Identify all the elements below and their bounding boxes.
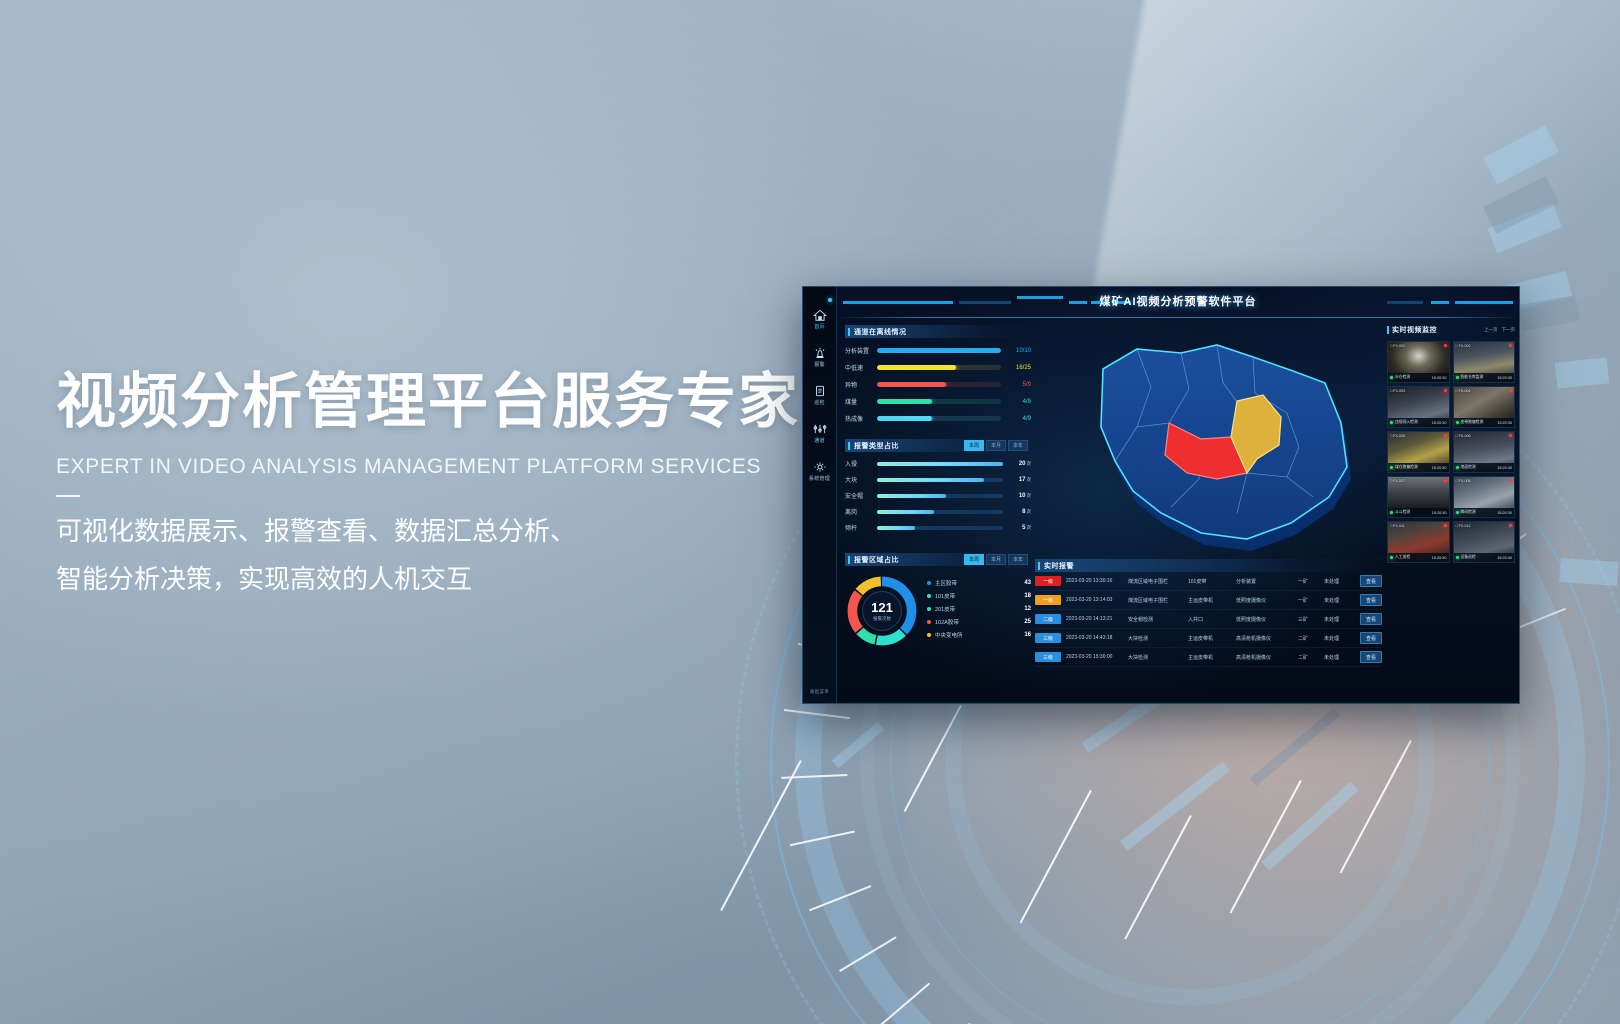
video-card[interactable]: □ FX-005煤仓跑偏检测15:20:30 (1387, 431, 1450, 473)
view-button[interactable]: 查看 (1360, 651, 1382, 663)
alarm-status: 未处理 (1324, 597, 1354, 604)
alarm-type-label: 大块 (845, 475, 877, 484)
video-timestamp: 15:20:30 (1497, 556, 1512, 560)
channel-panel-title: 通道在离线情况 (854, 327, 907, 337)
video-id-label: □ FX-012 (1456, 524, 1471, 528)
alarm-location: 主运皮带机 (1188, 635, 1236, 642)
video-timestamp: 15:20:30 (1432, 556, 1447, 560)
alarm-area-tab[interactable]: 本年 (1008, 554, 1028, 565)
video-card-footer: 人工巡检15:20:30 (1388, 553, 1449, 562)
marketing-copy: 视频分析管理平台服务专家 EXPERT IN VIDEO ANALYSIS MA… (56, 368, 836, 603)
channel-row-label: 煤量 (845, 397, 877, 406)
alarm-type-track (877, 510, 1003, 514)
video-id-label: □ FX-007 (1390, 479, 1405, 483)
alarm-type-value: 8次 (1003, 509, 1031, 515)
alarm-type: 煤流区域电子围栏 (1128, 597, 1188, 604)
recording-indicator-icon (1509, 344, 1512, 347)
donut-legend-dot (927, 607, 931, 611)
video-name: 违规闯入检测 (1395, 420, 1418, 425)
sidebar-item-inspection[interactable]: 巡检 (803, 385, 836, 406)
online-status-icon (1390, 511, 1393, 514)
alarm-type-unit: 次 (1027, 477, 1032, 482)
alarm-device: 低照度摄像仪 (1236, 597, 1298, 604)
channel-row-label: 分析装置 (845, 346, 877, 355)
table-row: 三级2023-03-20 14:43:18大块检测主运皮带机高清枪机摄像仪二矿未… (1035, 629, 1381, 648)
alarm-type-fill (877, 494, 946, 498)
view-button[interactable]: 查看 (1360, 632, 1382, 644)
video-timestamp: 15:20:30 (1432, 376, 1447, 380)
alarm-type-tabs: 本周本月本年 (964, 440, 1031, 451)
donut-legend-row: 中央变电所16 (927, 631, 1031, 639)
page-subtitle: EXPERT IN VIDEO ANALYSIS MANAGEMENT PLAT… (56, 455, 836, 479)
alarm-type-value: 5次 (1003, 525, 1031, 531)
alarm-type-row: 离岗8次 (845, 507, 1031, 516)
alarm-area-chart: 121 报警次数 主区胶带43101皮带18201皮带12102A胶带25中央变… (845, 574, 1031, 648)
video-id-label: □ FX-003 (1390, 389, 1405, 393)
donut-legend-row: 主区胶带43 (927, 579, 1031, 587)
channel-row-fill (877, 348, 1001, 353)
donut-total-value: 121 (871, 601, 893, 614)
alarm-type: 煤流区域电子围栏 (1128, 578, 1188, 585)
channel-row-value: 16/25 (1001, 365, 1031, 371)
video-card-footer: 煤仓跑偏检测15:20:30 (1388, 463, 1449, 472)
alarm-type: 大块检测 (1128, 635, 1188, 642)
donut-legend-name: 102A胶带 (935, 618, 1024, 626)
video-timestamp: 15:20:30 (1497, 511, 1512, 515)
alarm-mine: 二矿 (1298, 654, 1324, 661)
alarm-level-badge: 二级 (1035, 614, 1061, 624)
online-status-icon (1390, 556, 1393, 559)
view-button[interactable]: 查看 (1360, 594, 1382, 606)
sidebar-item-home[interactable]: 首页 (803, 309, 836, 330)
video-card[interactable]: □ FX-003违规闯入检测15:20:30 (1387, 386, 1450, 428)
video-prev-page[interactable]: 上一页 (1484, 327, 1498, 333)
online-status-icon (1390, 421, 1393, 424)
realtime-alarm-rows: 一级2023-03-20 13:30:16煤流区域电子围栏101皮带分析装置一矿… (1035, 572, 1381, 667)
alarm-status: 未处理 (1324, 616, 1354, 623)
alarm-area-panel: 报警区域占比 本周本月本年 121 报警次数 主区胶带43101皮带18201皮… (845, 553, 1031, 648)
table-row: 一级2023-03-20 13:30:16煤流区域电子围栏101皮带分析装置一矿… (1035, 572, 1381, 591)
video-card-footer: 违规闯入检测15:20:30 (1388, 418, 1449, 427)
alarm-type-label: 安全帽 (845, 491, 877, 500)
video-next-page[interactable]: 下一页 (1502, 327, 1516, 333)
alarm-type-tab[interactable]: 本周 (964, 440, 984, 451)
sidebar: 首页 报警 巡检 通道 (803, 287, 837, 703)
alarm-action-cell: 查看 (1354, 632, 1382, 644)
view-button[interactable]: 查看 (1360, 613, 1382, 625)
channel-row: 分析装置10/10 (845, 346, 1031, 355)
alarm-time: 2023-03-20 13:30:16 (1066, 578, 1128, 584)
alarm-type-panel-title: 报警类型占比 (854, 441, 899, 451)
video-name: 设备巡检 (1461, 555, 1476, 560)
donut-legend-value: 43 (1024, 580, 1031, 586)
recording-indicator-icon (1444, 479, 1447, 482)
video-timestamp: 15:20:30 (1497, 466, 1512, 470)
alarm-type-label: 入侵 (845, 459, 877, 468)
alarm-time: 2023-03-20 14:13:21 (1066, 616, 1128, 622)
channel-row-label: 中低速 (845, 363, 877, 372)
alarm-type-row: 入侵20次 (845, 459, 1031, 468)
alarm-device: 高清枪机摄像仪 (1236, 635, 1298, 642)
table-row: 二级2023-03-20 14:13:21安全帽检测入井口低照度摄像仪三矿未处理… (1035, 610, 1381, 629)
view-button[interactable]: 查看 (1360, 575, 1382, 587)
online-status-icon (1456, 466, 1459, 469)
alarm-level-badge: 三级 (1035, 652, 1061, 662)
video-card-footer: 水仓检测15:20:30 (1388, 373, 1449, 382)
sidebar-item-channel[interactable]: 通道 (803, 423, 836, 444)
alarm-type-value: 17次 (1003, 477, 1031, 483)
dashboard-screen: 首页 报警 巡检 通道 (802, 286, 1520, 704)
recording-indicator-icon (1509, 434, 1512, 437)
alarm-type-row: 安全帽10次 (845, 491, 1031, 500)
alarm-status: 未处理 (1324, 578, 1354, 585)
alarm-area-panel-title: 报警区域占比 (854, 555, 899, 565)
channel-rows: 分析装置10/10中低速16/25异物5/9煤量4/9热成像4/9 (845, 346, 1031, 423)
channel-row-fill (877, 416, 932, 421)
donut-legend-value: 16 (1024, 632, 1031, 638)
channel-row: 煤量4/9 (845, 397, 1031, 406)
video-name: 瞬间检测 (1461, 510, 1476, 515)
realtime-alarm-header: 实时报警 (1035, 559, 1381, 572)
video-timestamp: 15:20:30 (1432, 511, 1447, 515)
alarm-type-track (877, 462, 1003, 466)
hud-slab (1559, 558, 1619, 586)
donut-legend-row: 201皮带12 (927, 605, 1031, 613)
video-card-footer: 斗斗检测15:20:30 (1388, 508, 1449, 517)
alarm-type-fill (877, 526, 915, 530)
alarm-level-badge: 一级 (1035, 595, 1061, 605)
alarm-action-cell: 查看 (1354, 594, 1382, 606)
video-monitor-panel: 实时视频监控 上一页 下一页 □ FX-001水仓检测15:20:30□ FX-… (1387, 325, 1515, 563)
alarm-type-tab[interactable]: 本月 (986, 440, 1006, 451)
alarm-time: 2023-03-20 15:30:00 (1066, 654, 1128, 660)
sidebar-item-label: 系统管理 (803, 475, 836, 482)
alarm-mine: 三矿 (1298, 616, 1324, 623)
alarm-mine: 二矿 (1298, 635, 1324, 642)
donut-legend-row: 102A胶带25 (927, 618, 1031, 626)
video-name: 地面检测 (1461, 465, 1476, 470)
video-panel-header: 实时视频监控 上一页 下一页 (1387, 325, 1515, 335)
hud-slab (1555, 357, 1609, 388)
video-id-label: □ FX-001 (1390, 344, 1405, 348)
alarm-light-icon (813, 347, 827, 359)
channel-row-label: 异物 (845, 380, 877, 389)
alarm-mine: 一矿 (1298, 597, 1324, 604)
video-panel-title: 实时视频监控 (1392, 325, 1437, 335)
video-name: 水仓检测 (1395, 375, 1410, 380)
donut-legend-value: 12 (1024, 606, 1031, 612)
realtime-alarm-panel: 实时报警 一级2023-03-20 13:30:16煤流区域电子围栏101皮带分… (1035, 559, 1381, 667)
alarm-location: 主运皮带机 (1188, 597, 1236, 604)
realtime-alarm-title: 实时报警 (1044, 561, 1074, 571)
recording-indicator-icon (1509, 479, 1512, 482)
video-timestamp: 15:20:30 (1497, 376, 1512, 380)
donut-legend-row: 101皮带18 (927, 592, 1031, 600)
recording-indicator-icon (1444, 344, 1447, 347)
video-timestamp: 15:20:30 (1432, 421, 1447, 425)
video-card[interactable]: □ FX-012设备巡检15:20:30 (1453, 521, 1516, 563)
sidebar-status-dot (828, 298, 832, 302)
alarm-type: 大块检测 (1128, 654, 1188, 661)
channel-row-fill (877, 382, 946, 387)
channel-row-value: 5/9 (1001, 382, 1031, 388)
video-card[interactable]: □ FX-002智能仓库监测15:20:30 (1453, 341, 1516, 383)
video-card[interactable]: □ FX-008瞬间检测15:20:30 (1453, 476, 1516, 518)
video-name: 皮带跑偏检测 (1461, 420, 1484, 425)
alarm-action-cell: 查看 (1354, 575, 1382, 587)
donut-legend-name: 主区胶带 (935, 579, 1024, 587)
channel-row-track (877, 348, 1001, 353)
region-map[interactable] (1041, 327, 1371, 557)
video-timestamp: 15:20:30 (1497, 421, 1512, 425)
video-name: 斗斗检测 (1395, 510, 1410, 515)
online-status-icon (1390, 376, 1393, 379)
alarm-type-unit: 次 (1027, 525, 1032, 530)
alarm-action-cell: 查看 (1354, 651, 1382, 663)
online-status-icon (1456, 511, 1459, 514)
alarm-area-tabs: 本周本月本年 (964, 554, 1031, 565)
alarm-type-fill (877, 510, 934, 514)
donut-center: 121 报警次数 (862, 591, 902, 631)
alarm-type-label: 离岗 (845, 507, 877, 516)
alarm-device: 分析装置 (1236, 578, 1298, 585)
online-status-icon (1456, 556, 1459, 559)
video-id-label: □ FX-002 (1456, 344, 1471, 348)
sidebar-collapse-button[interactable]: 收起菜单 (803, 689, 836, 695)
channel-row: 中低速16/25 (845, 363, 1031, 372)
alarm-type-unit: 次 (1027, 493, 1032, 498)
recording-indicator-icon (1509, 524, 1512, 527)
alarm-level-badge: 三级 (1035, 633, 1061, 643)
donut-legend-value: 18 (1024, 593, 1031, 599)
alarm-status: 未处理 (1324, 635, 1354, 642)
divider-rule (56, 495, 80, 497)
channel-row-track (877, 416, 1001, 421)
video-card[interactable]: □ FX-006地面检测15:20:30 (1453, 431, 1516, 473)
channel-row-track (877, 365, 1001, 370)
channel-row: 热成像4/9 (845, 414, 1031, 423)
video-card[interactable]: □ FX-004皮带跑偏检测15:20:30 (1453, 386, 1516, 428)
video-card[interactable]: □ FX-011人工巡检15:20:30 (1387, 521, 1450, 563)
channel-row-value: 10/10 (1001, 348, 1031, 354)
alarm-level-badge: 一级 (1035, 576, 1061, 586)
channel-status-panel: 通道在离线情况 分析装置10/10中低速16/25异物5/9煤量4/9热成像4/… (845, 325, 1031, 423)
video-card-footer: 瞬间检测15:20:30 (1454, 508, 1515, 517)
video-card[interactable]: □ FX-007斗斗检测15:20:30 (1387, 476, 1450, 518)
alarm-type-row: 倾杆5次 (845, 523, 1031, 532)
map-svg (1041, 327, 1371, 557)
recording-indicator-icon (1509, 389, 1512, 392)
sidebar-item-label: 报警 (803, 361, 836, 368)
donut-legend-name: 201皮带 (935, 605, 1024, 613)
alarm-device: 高清枪机摄像仪 (1236, 654, 1298, 661)
description-line-2: 智能分析决策，实现高效的人机交互 (56, 555, 836, 603)
video-card[interactable]: □ FX-001水仓检测15:20:30 (1387, 341, 1450, 383)
recording-indicator-icon (1444, 434, 1447, 437)
alarm-type-track (877, 494, 1003, 498)
alarm-area-panel-header: 报警区域占比 本周本月本年 (845, 553, 1031, 566)
channel-panel-header: 通道在离线情况 (845, 325, 1031, 338)
video-card-footer: 设备巡检15:20:30 (1454, 553, 1515, 562)
recording-indicator-icon (1444, 524, 1447, 527)
video-grid: □ FX-001水仓检测15:20:30□ FX-002智能仓库监测15:20:… (1387, 341, 1515, 563)
alarm-type-row: 大块17次 (845, 475, 1031, 484)
table-row: 三级2023-03-20 15:30:00大块检测主运皮带机高清枪机摄像仪二矿未… (1035, 648, 1381, 667)
alarm-type-unit: 次 (1027, 461, 1032, 466)
channel-icon (813, 423, 827, 435)
alarm-location: 101皮带 (1188, 578, 1236, 585)
sidebar-item-label: 巡检 (803, 399, 836, 406)
video-id-label: □ FX-008 (1456, 479, 1471, 483)
donut-legend-dot (927, 633, 931, 637)
channel-row-fill (877, 399, 932, 404)
sidebar-item-label: 首页 (803, 323, 836, 330)
video-id-label: □ FX-004 (1456, 389, 1471, 393)
alarm-type-value: 10次 (1003, 493, 1031, 499)
alarm-type-track (877, 478, 1003, 482)
online-status-icon (1456, 376, 1459, 379)
online-status-icon (1390, 466, 1393, 469)
donut-legend-name: 101皮带 (935, 592, 1024, 600)
home-icon (813, 309, 827, 321)
alarm-type-value: 20次 (1003, 461, 1031, 467)
channel-row: 异物5/9 (845, 380, 1031, 389)
alarm-mine: 一矿 (1298, 578, 1324, 585)
video-name: 人工巡检 (1395, 555, 1410, 560)
channel-row-value: 4/9 (1001, 399, 1031, 405)
alarm-type-label: 倾杆 (845, 523, 877, 532)
alarm-time: 2023-03-20 13:14:03 (1066, 597, 1128, 603)
donut-legend-dot (927, 620, 931, 624)
table-row: 一级2023-03-20 13:14:03煤流区域电子围栏主运皮带机低照度摄像仪… (1035, 591, 1381, 610)
sidebar-item-label: 通道 (803, 437, 836, 444)
alarm-type-fill (877, 462, 1003, 466)
video-id-label: □ FX-006 (1456, 434, 1471, 438)
video-card-footer: 智能仓库监测15:20:30 (1454, 373, 1515, 382)
description-line-1: 可视化数据展示、报警查看、数据汇总分析、 (56, 507, 836, 555)
alarm-type-panel-header: 报警类型占比 本周本月本年 (845, 439, 1031, 452)
channel-row-track (877, 399, 1001, 404)
alarm-type-fill (877, 478, 984, 482)
video-id-label: □ FX-005 (1390, 434, 1405, 438)
donut-legend-name: 中央变电所 (935, 631, 1024, 639)
sidebar-collapse-label: 收起菜单 (803, 689, 836, 695)
clipboard-check-icon (813, 385, 827, 397)
alarm-location: 入井口 (1188, 616, 1236, 623)
donut-total-caption: 报警次数 (873, 616, 891, 622)
sidebar-item-system[interactable]: 系统管理 (803, 461, 836, 482)
donut-legend: 主区胶带43101皮带18201皮带12102A胶带25中央变电所16 (927, 579, 1031, 644)
video-name: 智能仓库监测 (1461, 375, 1484, 380)
video-card-footer: 地面检测15:20:30 (1454, 463, 1515, 472)
video-name: 煤仓跑偏检测 (1395, 465, 1418, 470)
sidebar-item-alarm[interactable]: 报警 (803, 347, 836, 368)
alarm-type-panel: 报警类型占比 本周本月本年 入侵20次大块17次安全帽10次离岗8次倾杆5次 (845, 439, 1031, 532)
donut-legend-dot (927, 594, 931, 598)
alarm-action-cell: 查看 (1354, 613, 1382, 625)
channel-row-value: 4/9 (1001, 416, 1031, 422)
alarm-time: 2023-03-20 14:43:18 (1066, 635, 1128, 641)
channel-row-track (877, 382, 1001, 387)
video-timestamp: 15:20:30 (1432, 466, 1447, 470)
online-status-icon (1456, 421, 1459, 424)
channel-row-label: 热成像 (845, 414, 877, 423)
recording-indicator-icon (1444, 389, 1447, 392)
alarm-type-track (877, 526, 1003, 530)
header-underline (837, 317, 1519, 318)
alarm-area-tab[interactable]: 本月 (986, 554, 1006, 565)
alarm-type-tab[interactable]: 本年 (1008, 440, 1028, 451)
gear-icon (813, 461, 827, 473)
video-card-footer: 皮带跑偏检测15:20:30 (1454, 418, 1515, 427)
alarm-device: 低照度摄像仪 (1236, 616, 1298, 623)
dashboard-title: 煤矿AI视频分析预警软件平台 (837, 293, 1519, 309)
video-pagination: 上一页 下一页 (1484, 327, 1515, 333)
donut-legend-dot (927, 581, 931, 585)
channel-row-fill (877, 365, 956, 370)
video-id-label: □ FX-011 (1390, 524, 1405, 528)
dashboard-header: 煤矿AI视频分析预警软件平台 (837, 287, 1519, 319)
page-title: 视频分析管理平台服务专家 (56, 368, 836, 435)
donut-chart: 121 报警次数 (845, 574, 919, 648)
alarm-location: 主运皮带机 (1188, 654, 1236, 661)
alarm-area-tab[interactable]: 本周 (964, 554, 984, 565)
alarm-status: 未处理 (1324, 654, 1354, 661)
donut-legend-value: 25 (1024, 619, 1031, 625)
alarm-type-rows: 入侵20次大块17次安全帽10次离岗8次倾杆5次 (845, 459, 1031, 532)
alarm-type-unit: 次 (1027, 509, 1032, 514)
alarm-type: 安全帽检测 (1128, 616, 1188, 623)
